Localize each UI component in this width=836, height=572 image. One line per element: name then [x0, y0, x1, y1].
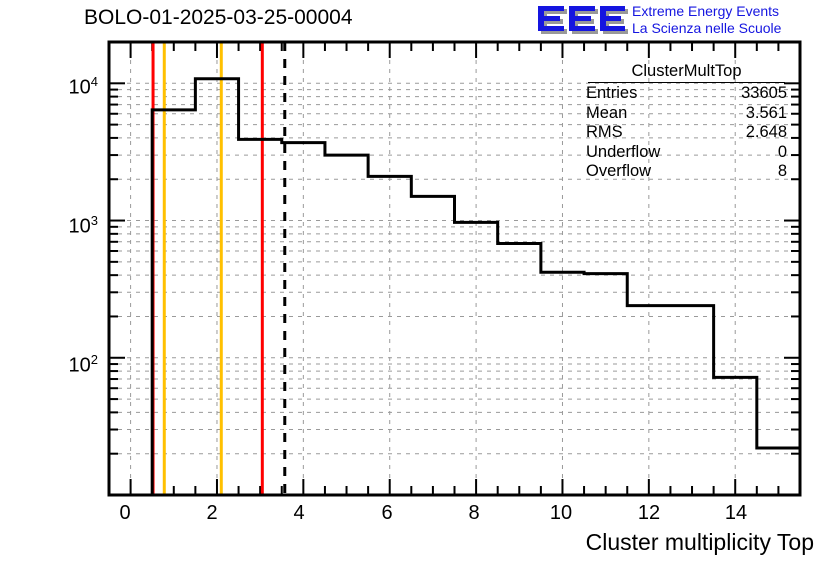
x-ticklabel-0: 0 — [105, 502, 145, 525]
root-canvas: BOLO-01-2025-03-25-00004 Extreme Energy … — [0, 0, 836, 572]
x-axis-title: Cluster multiplicity Top — [586, 529, 814, 556]
x-ticklabel-4: 4 — [279, 502, 319, 525]
x-ticklabel-2: 2 — [192, 502, 232, 525]
eee-logo-mark — [536, 2, 628, 38]
stats-label-entries: Entries — [586, 84, 637, 104]
stats-row-mean: Mean 3.561 — [580, 104, 793, 124]
x-ticklabel-12: 12 — [629, 502, 669, 525]
x-ticklabel-10: 10 — [541, 502, 581, 525]
stats-value-underflow: 0 — [778, 143, 787, 163]
eee-logo-line1: Extreme Energy Events — [632, 3, 781, 20]
y-ticklabel-1e2: 102 — [20, 352, 98, 378]
eee-logo-line2: La Scienza nelle Scuole — [632, 20, 781, 37]
y-ticklabel-1e3: 103 — [20, 213, 98, 239]
y-ticklabel-1e4: 104 — [20, 74, 98, 100]
stats-value-entries: 33605 — [741, 84, 787, 104]
stats-label-underflow: Underflow — [586, 143, 660, 163]
stats-box: ClusterMultTop Entries 33605 Mean 3.561 … — [580, 62, 793, 182]
stats-title: ClusterMultTop — [588, 62, 785, 83]
stats-label-rms: RMS — [586, 123, 623, 143]
page-title: BOLO-01-2025-03-25-00004 — [84, 6, 353, 30]
stats-row-overflow: Overflow 8 — [580, 162, 793, 182]
stats-row-underflow: Underflow 0 — [580, 143, 793, 163]
stats-value-rms: 2.648 — [746, 123, 787, 143]
stats-label-mean: Mean — [586, 104, 627, 124]
stats-row-entries: Entries 33605 — [580, 84, 793, 104]
stats-label-overflow: Overflow — [586, 162, 651, 182]
x-ticklabel-8: 8 — [454, 502, 494, 525]
stats-value-overflow: 8 — [778, 162, 787, 182]
eee-logo-text: Extreme Energy Events La Scienza nelle S… — [632, 3, 781, 37]
x-ticklabel-6: 6 — [367, 502, 407, 525]
stats-row-rms: RMS 2.648 — [580, 123, 793, 143]
eee-logo: Extreme Energy Events La Scienza nelle S… — [536, 1, 836, 41]
x-ticklabel-14: 14 — [716, 502, 756, 525]
stats-value-mean: 3.561 — [746, 104, 787, 124]
